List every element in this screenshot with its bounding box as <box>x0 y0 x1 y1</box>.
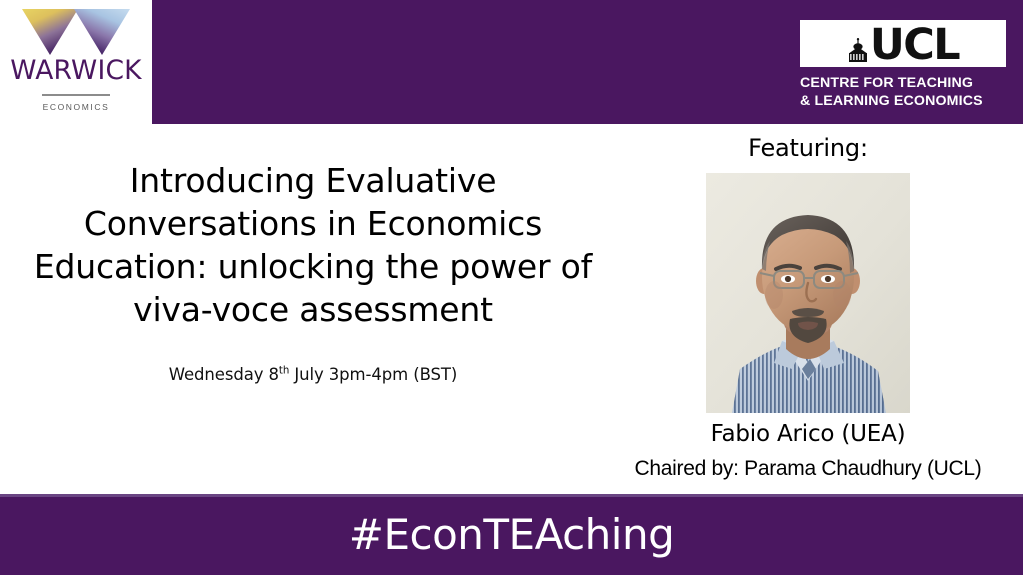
event-promo-slide: WARWICK ECONOMICS UCL <box>0 0 1023 575</box>
warwick-department-label: ECONOMICS <box>43 102 110 112</box>
speaker-column: Featuring: <box>598 136 1018 480</box>
ucl-caption-line-2: & LEARNING ECONOMICS <box>800 92 1010 110</box>
warwick-wordmark: WARWICK <box>10 58 142 85</box>
speaker-headshot-image <box>706 173 910 413</box>
event-date-suffix: July 3pm-4pm (BST) <box>289 365 457 384</box>
event-datetime: Wednesday 8th July 3pm-4pm (BST) <box>28 365 598 384</box>
warwick-economics-logo: WARWICK ECONOMICS <box>0 0 152 124</box>
warwick-divider-rule <box>42 94 110 96</box>
ucl-logo-block: UCL CENTRE FOR TEACHING & LEARNING ECONO… <box>800 20 1010 112</box>
event-date-prefix: Wednesday 8 <box>169 365 279 384</box>
event-date-ordinal: th <box>279 365 289 376</box>
ucl-portico-dome-icon <box>847 38 869 62</box>
event-details-column: Introducing Evaluative Conversations in … <box>28 160 598 384</box>
event-title: Introducing Evaluative Conversations in … <box>28 160 598 332</box>
event-hashtag: #EconTEAching <box>349 514 674 559</box>
ucl-logo-box: UCL <box>800 20 1006 67</box>
featuring-label: Featuring: <box>598 136 1018 160</box>
footer-band: #EconTEAching <box>0 494 1023 575</box>
chaired-by-label: Chaired by: Parama Chaudhury (UCL) <box>598 457 1018 480</box>
speaker-portrait <box>706 173 910 413</box>
ucl-caption-line-1: CENTRE FOR TEACHING <box>800 74 1010 92</box>
warwick-w-mark-icon <box>16 7 136 55</box>
speaker-name: Fabio Arico (UEA) <box>598 422 1018 447</box>
ucl-caption: CENTRE FOR TEACHING & LEARNING ECONOMICS <box>800 74 1010 110</box>
ucl-letters: UCL <box>870 25 959 66</box>
